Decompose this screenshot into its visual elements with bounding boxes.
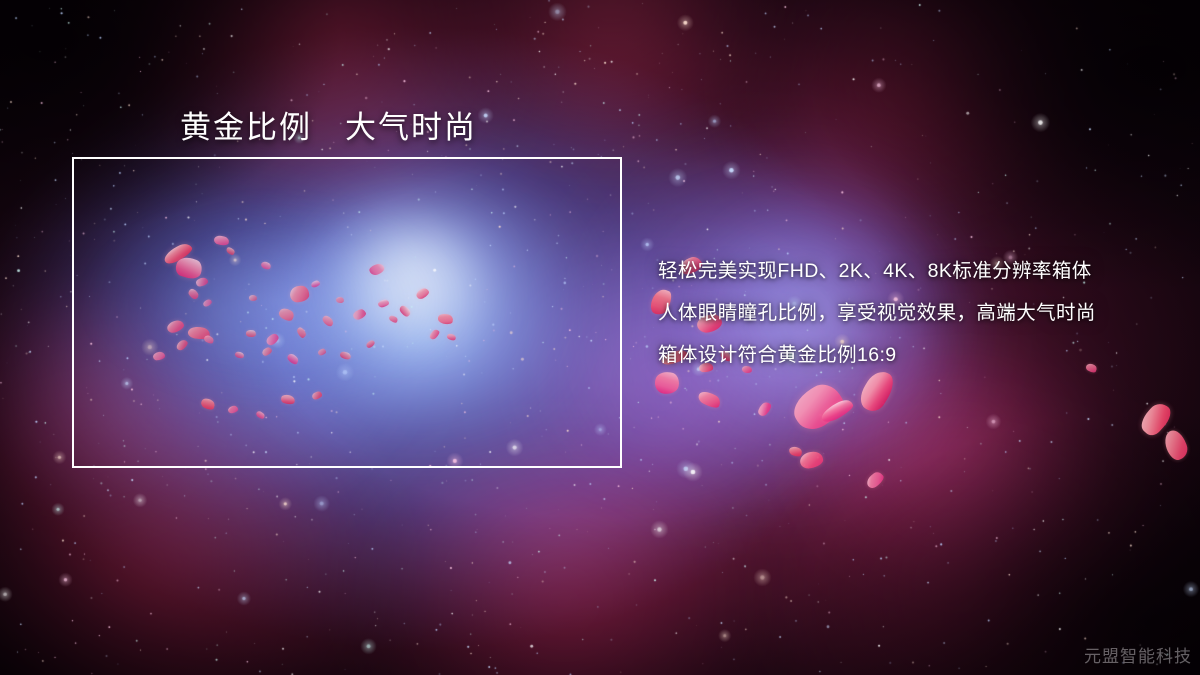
image-frame-panel bbox=[72, 157, 622, 468]
watermark: 元盟智能科技 bbox=[1084, 642, 1192, 667]
body-line-1: 轻松完美实现FHD、2K、4K、8K标准分辨率箱体 bbox=[658, 250, 1158, 292]
presentation-slide: 黄金比例 大气时尚 轻松完美实现FHD、2K、4K、8K标准分辨率箱体 人体眼睛… bbox=[0, 0, 1200, 675]
page-title: 黄金比例 大气时尚 bbox=[180, 102, 477, 147]
nebula-red-top-right bbox=[720, 0, 1104, 216]
body-line-2: 人体眼睛瞳孔比例，享受视觉效果，高端大气时尚 bbox=[658, 292, 1158, 334]
body-line-3: 箱体设计符合黄金比例16:9 bbox=[658, 334, 1158, 376]
panel-brightness-overlay bbox=[74, 159, 620, 466]
nebula-red-bottom-right bbox=[720, 419, 1200, 675]
nebula-red-bottom-center bbox=[336, 446, 792, 675]
body-text-block: 轻松完美实现FHD、2K、4K、8K标准分辨率箱体 人体眼睛瞳孔比例，享受视觉效… bbox=[658, 250, 1158, 376]
